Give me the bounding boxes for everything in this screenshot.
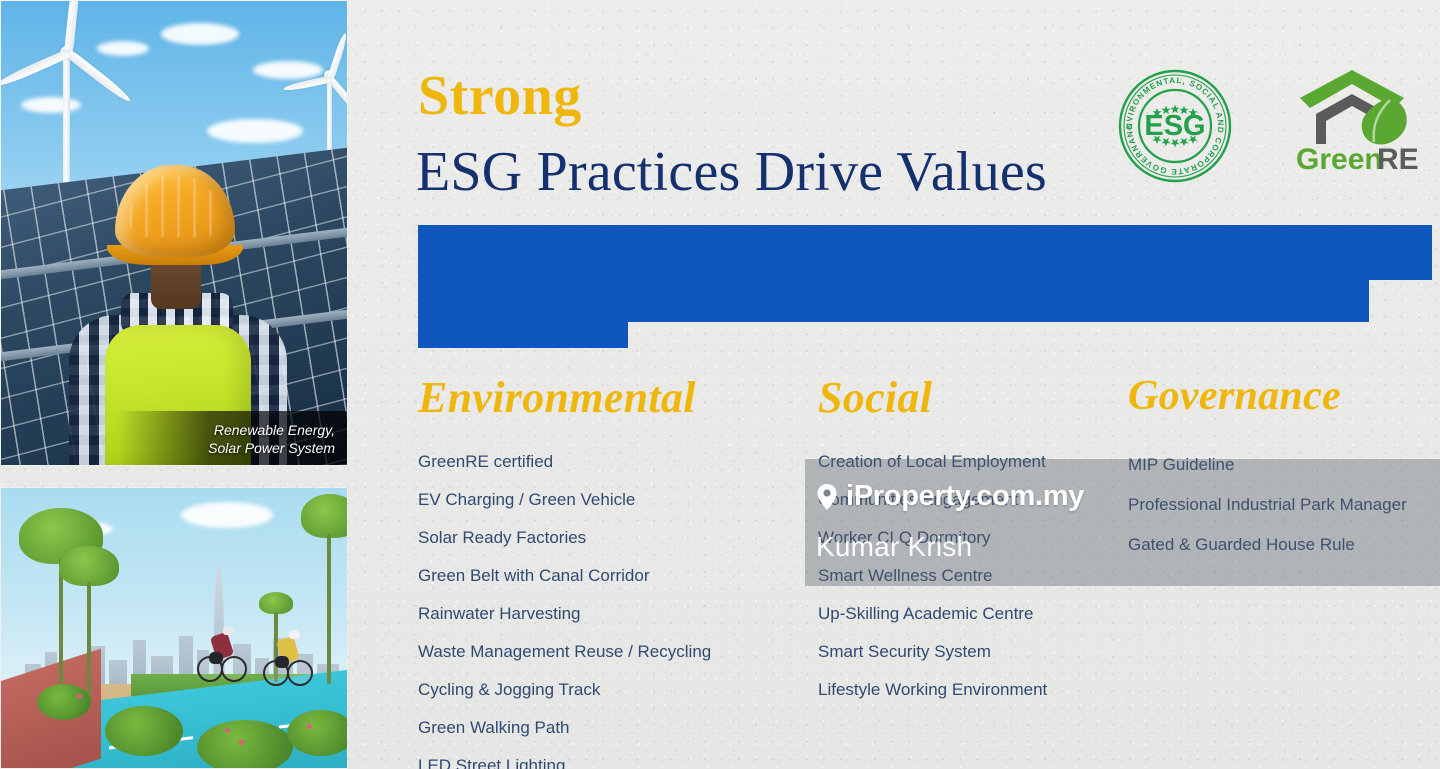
list-item: Worker CLQ Dormitory bbox=[818, 519, 1118, 557]
list-item: Rainwater Harvesting bbox=[418, 595, 808, 633]
list-item: Solar Ready Factories bbox=[418, 519, 808, 557]
list-item: Professional Industrial Park Manager bbox=[1128, 485, 1440, 525]
shrub-icon bbox=[197, 720, 293, 769]
column-title-social: Social bbox=[818, 372, 1118, 423]
list-item: Creation of Local Employment bbox=[818, 443, 1118, 481]
list-item: Waste Management Reuse / Recycling bbox=[418, 633, 808, 671]
column-title-governance: Governance bbox=[1128, 372, 1440, 420]
esg-slide: Renewable Energy, Solar Power System bbox=[0, 0, 1440, 769]
redaction-bar bbox=[418, 225, 1432, 280]
shrub-icon bbox=[287, 710, 348, 756]
list-environmental: GreenRE certified EV Charging / Green Ve… bbox=[418, 443, 808, 769]
column-social: Social Creation of Local Employment Comm… bbox=[818, 372, 1118, 709]
list-item: Green Walking Path bbox=[418, 709, 808, 747]
esg-seal-badge: ENVIRONMENTAL, SOCIAL AND CORPORATE GOVE… bbox=[1117, 68, 1233, 184]
cyclist-figure bbox=[263, 628, 313, 690]
greenre-logo: Green RE bbox=[1294, 64, 1420, 174]
esg-seal-center-label: ESG bbox=[1144, 110, 1205, 142]
list-social: Creation of Local Employment Communities… bbox=[818, 443, 1118, 709]
column-governance: Governance MIP Guideline Professional In… bbox=[1128, 372, 1440, 565]
cloud-icon bbox=[207, 119, 303, 143]
flower-icon bbox=[77, 694, 82, 699]
list-item: EV Charging / Green Vehicle bbox=[418, 481, 808, 519]
list-item: Smart Security System bbox=[818, 633, 1118, 671]
photo-column: Renewable Energy, Solar Power System bbox=[0, 0, 350, 769]
list-item: Gated & Guarded House Rule bbox=[1128, 525, 1440, 565]
wind-turbine-icon bbox=[19, 7, 189, 187]
column-title-environmental: Environmental bbox=[418, 372, 808, 423]
caption-line-1: Renewable Energy, bbox=[208, 422, 335, 440]
slide-headline: ESG Practices Drive Values bbox=[416, 140, 1047, 204]
column-environmental: Environmental GreenRE certified EV Charg… bbox=[418, 372, 808, 769]
wind-turbine-icon bbox=[297, 45, 348, 165]
hard-hat-icon bbox=[115, 165, 235, 257]
flower-icon bbox=[307, 724, 312, 729]
list-governance: MIP Guideline Professional Industrial Pa… bbox=[1128, 445, 1440, 565]
photo-renewable-energy: Renewable Energy, Solar Power System bbox=[0, 0, 348, 466]
list-item: Smart Wellness Centre bbox=[818, 557, 1118, 595]
list-item: Cycling & Jogging Track bbox=[418, 671, 808, 709]
flower-icon bbox=[225, 728, 230, 733]
slide-content: Strong ESG Practices Drive Values ENVIRO… bbox=[350, 0, 1440, 769]
list-item: LED Street Lighting bbox=[418, 747, 808, 769]
redaction-bar bbox=[418, 310, 628, 348]
slide-kicker: Strong bbox=[418, 64, 582, 128]
flower-icon bbox=[239, 740, 244, 745]
cloud-icon bbox=[181, 502, 273, 528]
greenre-wordmark-green: Green bbox=[1296, 143, 1383, 174]
list-item: Lifestyle Working Environment bbox=[818, 671, 1118, 709]
caption-line-2: Solar Power System bbox=[208, 440, 335, 458]
photo-cycling-track bbox=[0, 487, 348, 769]
cyclist-figure bbox=[197, 624, 247, 686]
shrub-icon bbox=[105, 706, 183, 756]
list-item: Communities Engagement bbox=[818, 481, 1118, 519]
list-item: MIP Guideline bbox=[1128, 445, 1440, 485]
redacted-paragraph: With sustainability at the core and by w… bbox=[418, 222, 1440, 354]
greenre-wordmark-gray: RE bbox=[1377, 143, 1419, 174]
list-item: Green Belt with Canal Corridor bbox=[418, 557, 808, 595]
photo-caption: Renewable Energy, Solar Power System bbox=[208, 422, 335, 457]
list-item: GreenRE certified bbox=[418, 443, 808, 481]
list-item: Up-Skilling Academic Centre bbox=[818, 595, 1118, 633]
shrub-icon bbox=[37, 684, 91, 720]
